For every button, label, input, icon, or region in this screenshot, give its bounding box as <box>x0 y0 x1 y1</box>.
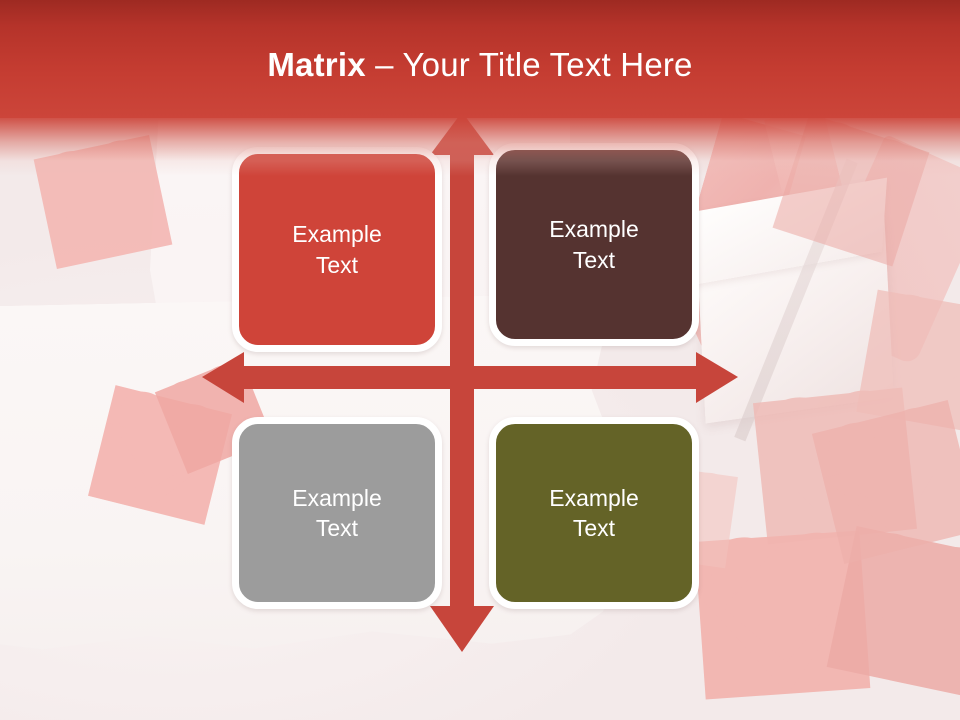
arrow-head-down <box>430 606 494 652</box>
slide-canvas: Example Text Example Text Example Text E… <box>0 0 960 720</box>
arrow-head-up <box>430 112 494 155</box>
quadrant-box-top-right[interactable]: Example Text <box>489 143 699 346</box>
quadrant-label: Example Text <box>282 483 391 544</box>
quadrant-box-bottom-left[interactable]: Example Text <box>232 417 442 609</box>
page-title-strong: Matrix <box>267 46 365 83</box>
quadrant-label: Example Text <box>282 219 391 280</box>
page-title-rest: – Your Title Text Here <box>366 46 693 83</box>
axis-horizontal-shaft <box>222 366 714 389</box>
page-title: Matrix – Your Title Text Here <box>0 46 960 84</box>
quadrant-label: Example Text <box>539 483 648 544</box>
arrow-head-left <box>202 352 244 403</box>
arrow-head-right <box>696 352 738 403</box>
quadrant-label: Example Text <box>539 214 648 275</box>
quadrant-box-bottom-right[interactable]: Example Text <box>489 417 699 609</box>
quadrant-box-top-left[interactable]: Example Text <box>232 147 442 352</box>
